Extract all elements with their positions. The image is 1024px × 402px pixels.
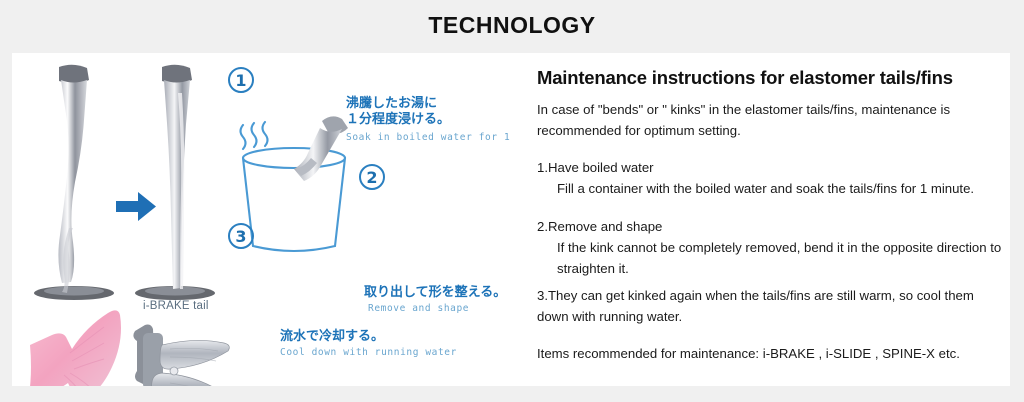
label-i-brake-tail: i-BRAKE tail	[143, 300, 209, 312]
instructions-step1-body: Fill a container with the boiled water a…	[537, 178, 1024, 199]
step-number-1: 1	[228, 67, 254, 93]
content-panel: i-BRAKE tail i-SLIDE tail SPINE-X tail 1…	[12, 53, 1010, 386]
instructions-step2-body: If the kink cannot be completely removed…	[537, 237, 1024, 279]
step2-jp-line1: 取り出して形を整える。	[364, 285, 506, 301]
instructions-area: Maintenance instructions for elastomer t…	[525, 53, 1010, 386]
step3-en-caption: Cool down with running water	[280, 347, 457, 358]
instructions-step3-body: 3.They can get kinked again when the tai…	[537, 285, 1009, 327]
instructions-intro: In case of "bends" or " kinks" in the el…	[537, 99, 1009, 141]
photo-i-brake-tail-bent	[34, 65, 114, 300]
step-number-3: 3	[228, 223, 254, 249]
photo-spine-x-tail	[133, 325, 229, 387]
instructions-step2-title: 2.Remove and shape	[537, 216, 1009, 237]
photo-i-slide-tail	[30, 310, 121, 386]
page-title: TECHNOLOGY	[0, 12, 1024, 39]
step1-en-caption: Soak in boiled water for 1 min	[346, 132, 512, 143]
step1-jp-line1: 沸騰したお湯に	[346, 96, 437, 112]
instructions-heading: Maintenance instructions for elastomer t…	[537, 67, 1007, 89]
instructions-step1-title: 1.Have boiled water	[537, 157, 1009, 178]
step3-jp-line1: 流水で冷却する。	[280, 329, 384, 345]
step-number-2: 2	[359, 164, 385, 190]
step1-jp-line2: １分程度浸ける。	[346, 112, 450, 128]
instructions-footer: Items recommended for maintenance: i-BRA…	[537, 343, 1009, 364]
blue-right-arrow-icon	[116, 192, 156, 221]
photo-i-brake-tail-straight	[135, 65, 215, 300]
step2-en-caption: Remove and shape	[368, 303, 469, 314]
illustration-area: i-BRAKE tail i-SLIDE tail SPINE-X tail 1…	[12, 53, 512, 386]
